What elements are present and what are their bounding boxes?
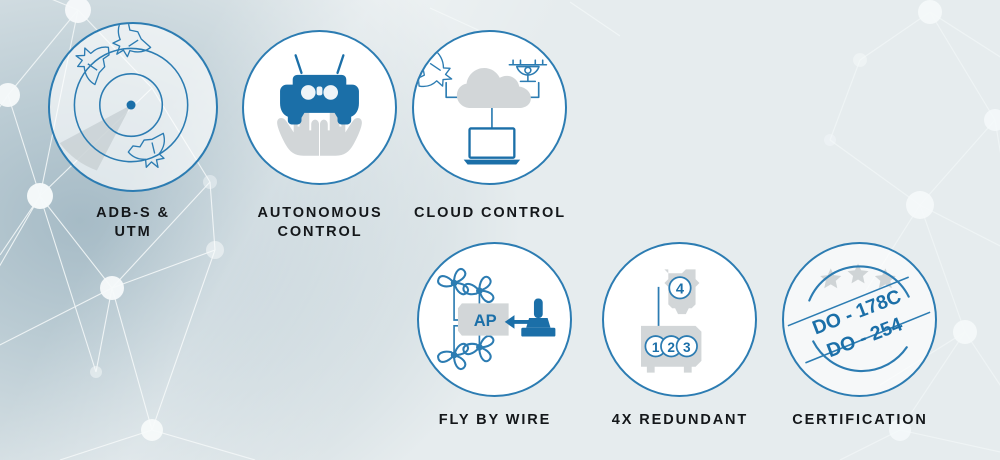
redundant-channels-icon: 4 1 2 3	[604, 244, 755, 395]
caption-autonomous-control: AUTONOMOUS CONTROL	[230, 204, 410, 242]
rc-transmitter-hands-off-icon	[244, 32, 395, 183]
caption-adbs-utm: ADB-S & UTM	[43, 204, 223, 242]
caption-cloud-control: CLOUD CONTROL	[400, 204, 580, 223]
autopilot-propellers-joystick-icon: AP	[419, 244, 570, 395]
icon-disc-cloud-control	[412, 30, 567, 185]
infographic-canvas: ADB-S & UTM AUTONOMOUS CONTROL	[0, 0, 1000, 460]
redundant-number-3: 3	[683, 340, 691, 355]
icon-disc-adbs-utm	[48, 22, 218, 192]
caption-certification: CERTIFICATION	[770, 411, 950, 430]
redundant-number-1: 1	[652, 340, 660, 355]
redundant-number-2: 2	[667, 340, 675, 355]
caption-4x-redundant: 4X REDUNDANT	[590, 411, 770, 430]
cloud-aircraft-drone-laptop-icon	[414, 32, 565, 183]
icon-disc-certification: DO - 178C DO - 254	[782, 242, 937, 397]
icon-disc-fly-by-wire: AP	[417, 242, 572, 397]
autopilot-box-label: AP	[474, 311, 497, 330]
radar-aircraft-icon	[50, 24, 216, 190]
icon-disc-autonomous-control	[242, 30, 397, 185]
certification-stamp-icon: DO - 178C DO - 254	[784, 244, 935, 395]
redundant-number-4: 4	[676, 282, 685, 298]
icon-disc-4x-redundant: 4 1 2 3	[602, 242, 757, 397]
caption-fly-by-wire: FLY BY WIRE	[405, 411, 585, 430]
